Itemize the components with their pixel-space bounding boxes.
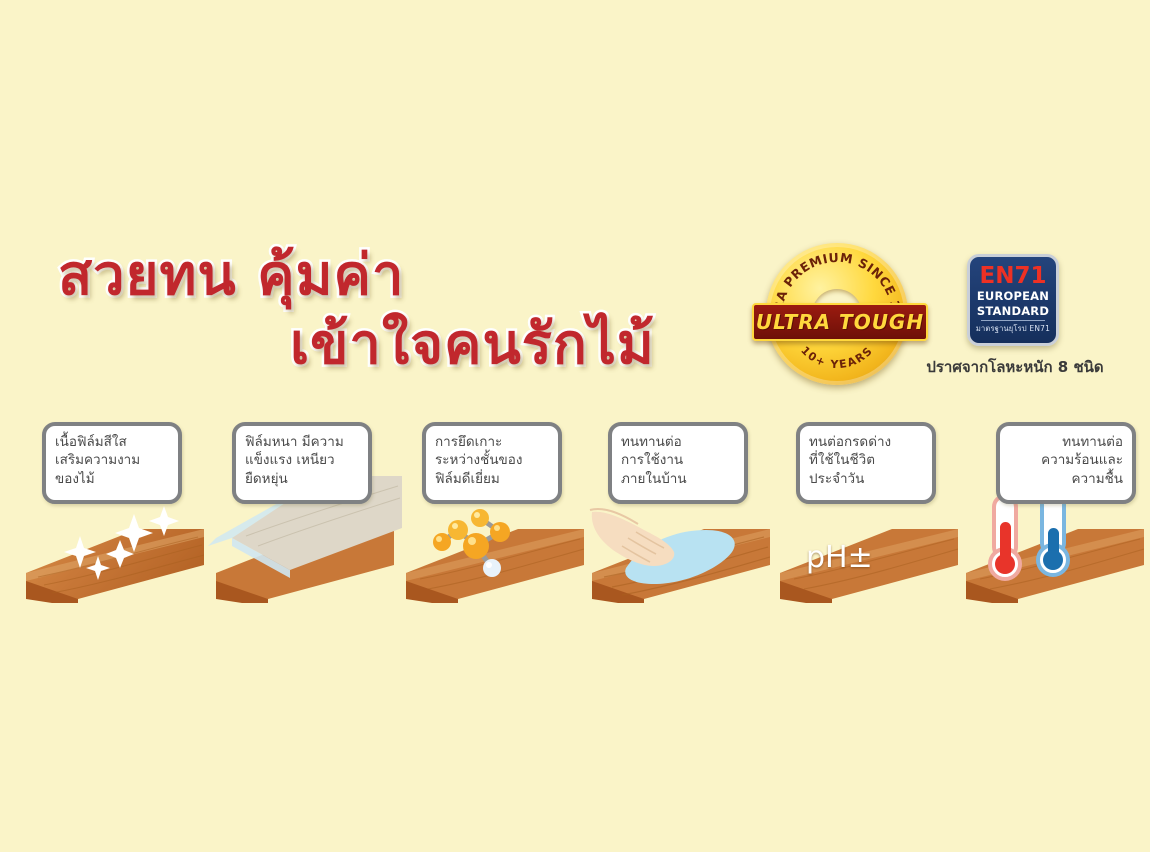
ultra-tough-seal: ULTRA PREMIUM SINCE 1972 10+ YEARS ULTRA… [752, 243, 924, 385]
wood-plank-icon [208, 511, 394, 603]
headline: สวยทน คุ้มค่า เข้าใจคนรักไม้ [50, 245, 750, 376]
feature-card: ฟิล์มหนา มีความ แข็งแรง เหนียว ยืดหยุ่น [232, 422, 372, 504]
en71-caption: ปราศจากโลหะหนัก 8 ชนิด [905, 355, 1125, 379]
headline-line-1: สวยทน คุ้มค่า [58, 245, 750, 308]
feature-text: ฟิล์มหนา มีความ แข็งแรง เหนียว ยืดหยุ่น [245, 433, 359, 488]
en71-badge: EN71 EUROPEAN STANDARD มาตรฐานยุโรป EN71 [967, 254, 1059, 346]
feature-card: เนื้อฟิล์มสีใส เสริมความงาม ของไม้ [42, 422, 182, 504]
seal-banner: ULTRA TOUGH [752, 303, 928, 341]
seal-banner-text: ULTRA TOUGH [756, 310, 924, 334]
en71-thai-text: มาตรฐานยุโรป EN71 [976, 323, 1050, 335]
poster-canvas: สวยทน คุ้มค่า เข้าใจคนรักไม้ ULTRA PREMI… [0, 0, 1150, 852]
wood-plank-icon [398, 511, 584, 603]
feature-card: ทนทานต่อ ความร้อนและ ความชื้น [996, 422, 1136, 504]
feature-card: การยึดเกาะ ระหว่างชั้นของ ฟิล์มดีเยี่ยม [422, 422, 562, 504]
feature-text: ทนต่อกรดด่าง ที่ใช้ในชีวิต ประจำวัน [809, 433, 923, 488]
feature-thick-film: ฟิล์มหนา มีความ แข็งแรง เหนียว ยืดหยุ่น [206, 418, 402, 613]
feature-acid-alkali: pH± ทนต่อกรดด่าง ที่ใช้ในชีวิต ประจำวัน [770, 418, 966, 613]
feature-card: ทนต่อกรดด่าง ที่ใช้ในชีวิต ประจำวัน [796, 422, 936, 504]
feature-indoor-durability: ทนทานต่อ การใช้งาน ภายในบ้าน [582, 418, 778, 613]
en71-line-1: EUROPEAN [977, 290, 1049, 303]
ph-badge: pH± [806, 540, 873, 575]
feature-card: ทนทานต่อ การใช้งาน ภายในบ้าน [608, 422, 748, 504]
seal-arc-bottom-text: 10+ YEARS [798, 344, 875, 371]
feature-text: เนื้อฟิล์มสีใส เสริมความงาม ของไม้ [55, 433, 169, 488]
headline-line-2: เข้าใจคนรักไม้ [290, 314, 750, 377]
feature-text: การยึดเกาะ ระหว่างชั้นของ ฟิล์มดีเยี่ยม [435, 433, 549, 488]
en71-line-2: STANDARD [977, 305, 1049, 318]
wood-plank-icon [958, 511, 1144, 603]
svg-text:10+ YEARS: 10+ YEARS [798, 344, 875, 371]
feature-clear-film: เนื้อฟิล์มสีใส เสริมความงาม ของไม้ [16, 418, 212, 613]
feature-text: ทนทานต่อ ความร้อนและ ความชื้น [1009, 433, 1123, 488]
en71-divider [981, 320, 1045, 321]
wood-plank-icon [18, 511, 204, 603]
feature-adhesion: การยึดเกาะ ระหว่างชั้นของ ฟิล์มดีเยี่ยม [396, 418, 592, 613]
feature-text: ทนทานต่อ การใช้งาน ภายในบ้าน [621, 433, 735, 488]
feature-heat-humidity: ทนทานต่อ ความร้อนและ ความชื้น [956, 418, 1150, 613]
en71-code: EN71 [980, 265, 1047, 288]
feature-row: เนื้อฟิล์มสีใส เสริมความงาม ของไม้ ฟิล์ม… [0, 418, 1150, 613]
wood-plank-icon [584, 511, 770, 603]
